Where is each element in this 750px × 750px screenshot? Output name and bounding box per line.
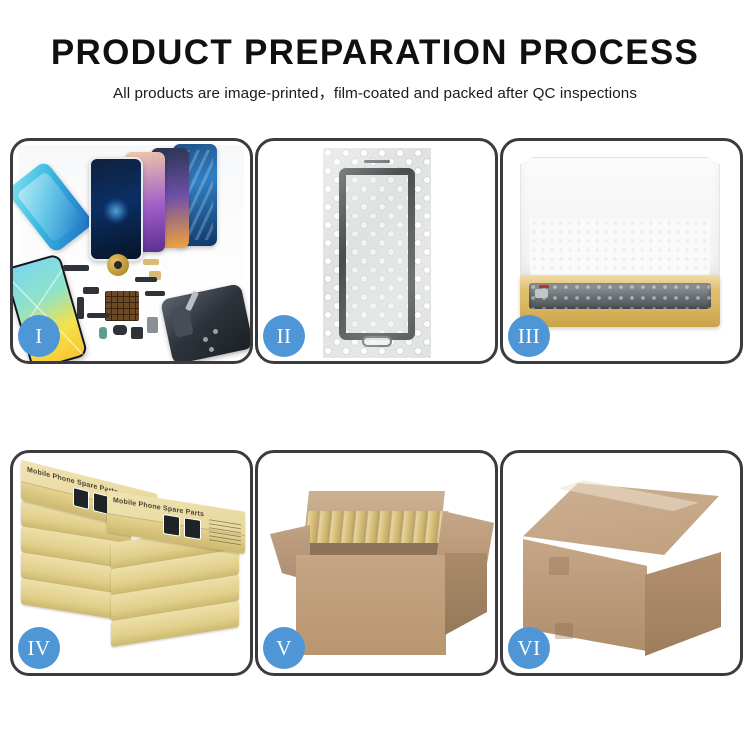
bubble-wrap	[323, 148, 431, 358]
wrapped-screen	[529, 283, 711, 309]
page-title: PRODUCT PREPARATION PROCESS	[0, 34, 750, 72]
process-panel-2[interactable]: II	[255, 138, 498, 364]
copper-coil-part	[107, 254, 129, 276]
spare-part	[99, 327, 107, 339]
panel-badge-5: V	[263, 627, 305, 669]
kraft-box	[520, 275, 720, 327]
carton-seam-patch	[549, 557, 569, 575]
process-panel-4[interactable]: Mobile Phone Spare Parts Mobile Phone Sp…	[10, 450, 253, 676]
panel-badge-2: II	[263, 315, 305, 357]
page-subtitle: All products are image-printed，film-coat…	[0, 81, 750, 103]
box-phone-image	[163, 514, 180, 537]
screw-part	[213, 329, 218, 334]
process-panel-1[interactable]: I	[10, 138, 253, 364]
panel-badge-4: IV	[18, 627, 60, 669]
carton-side-face	[645, 552, 721, 656]
box-phone-image	[184, 517, 201, 540]
spare-part	[87, 313, 109, 318]
spare-part	[131, 327, 143, 339]
carton-inner-rim	[296, 543, 446, 555]
phone-screen-jellyfish	[89, 157, 143, 261]
chip-grid-part	[105, 291, 139, 321]
spare-part	[113, 325, 127, 335]
spare-part	[83, 287, 99, 294]
panel-badge-1: I	[18, 315, 60, 357]
spare-part	[77, 297, 84, 319]
box-text-lines	[209, 519, 241, 545]
panel-badge-6: VI	[508, 627, 550, 669]
spare-part	[145, 291, 165, 296]
screw-part	[203, 337, 208, 342]
spare-part	[63, 265, 89, 271]
carton-side-face	[445, 553, 487, 635]
carton-seam-patch	[555, 623, 573, 639]
process-panel-grid: I II III	[10, 138, 742, 678]
spare-part	[135, 277, 157, 282]
panel-badge-3: III	[508, 315, 550, 357]
process-panel-5[interactable]: V	[255, 450, 498, 676]
screw-part	[209, 347, 214, 352]
carton-front-face	[296, 555, 446, 655]
box-phone-image	[73, 487, 89, 510]
spare-part	[147, 317, 158, 333]
process-panel-6[interactable]: VI	[500, 450, 743, 676]
wrap-gloss	[323, 148, 431, 358]
page-header: PRODUCT PREPARATION PROCESS All products…	[0, 0, 750, 103]
process-panel-3[interactable]: III	[500, 138, 743, 364]
foam-padding	[530, 219, 710, 281]
spare-part	[143, 259, 159, 265]
